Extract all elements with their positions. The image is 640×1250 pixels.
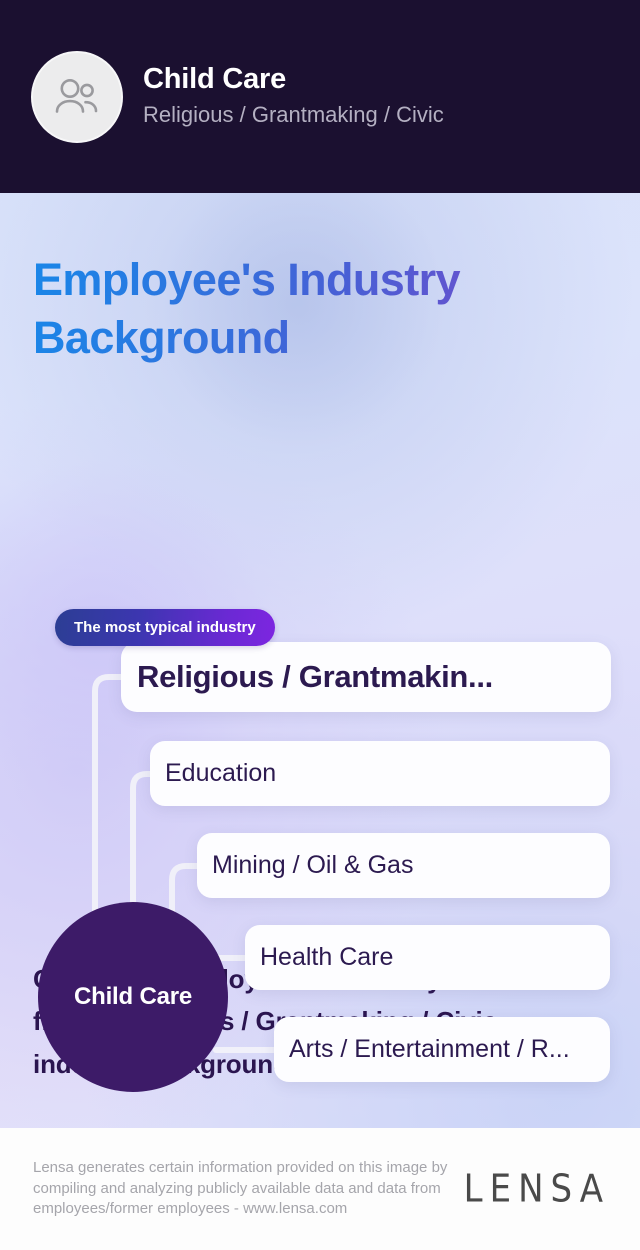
two-people-icon [52,75,102,119]
header-bar: Child Care Religious / Grantmaking / Civ… [0,0,640,193]
industry-card-4[interactable]: Health Care [245,925,610,990]
avatar [31,51,123,143]
lensa-logo: LENSA [464,1167,610,1212]
footer-bar: Lensa generates certain information prov… [0,1128,640,1250]
root-node-child-care[interactable]: Child Care [38,902,228,1092]
footer-disclaimer: Lensa generates certain information prov… [33,1158,464,1220]
industry-card-3[interactable]: Mining / Oil & Gas [197,833,610,898]
infographic-page: Child Care Religious / Grantmaking / Civ… [0,0,640,1250]
most-typical-industry-badge: The most typical industry [55,609,275,646]
industry-tree: The most typical industry Religious / Gr… [0,193,640,1128]
industry-card-2[interactable]: Education [150,741,610,806]
main-canvas: Employee's Industry Background The most … [0,193,640,1128]
industry-card-primary[interactable]: Religious / Grantmakin... [121,642,611,712]
header-company-name: Child Care [143,63,444,95]
industry-card-5[interactable]: Arts / Entertainment / R... [274,1017,610,1082]
header-text-block: Child Care Religious / Grantmaking / Civ… [143,63,444,130]
header-industry-label: Religious / Grantmaking / Civic [143,100,444,130]
